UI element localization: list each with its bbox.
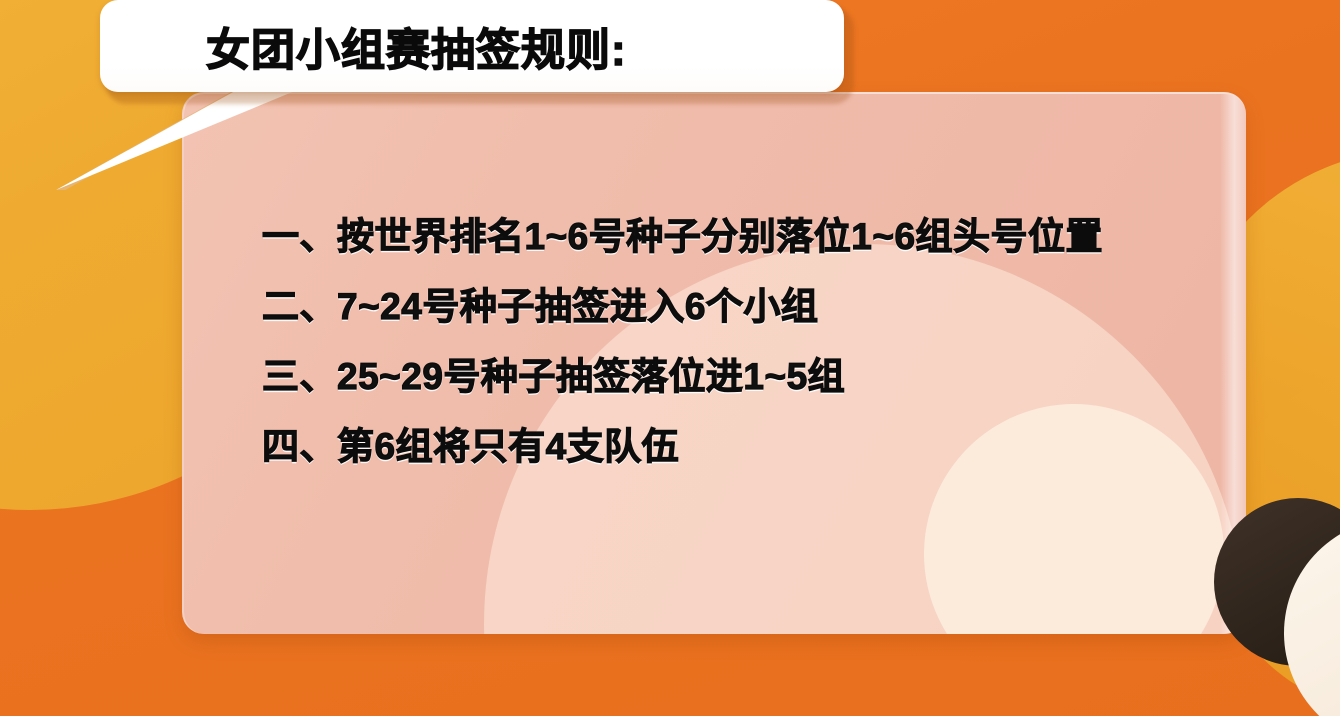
table-tennis-ball-graphic xyxy=(1198,492,1340,716)
rule-item-2: 二、7~24号种子抽签进入6个小组 xyxy=(262,272,1246,342)
graphic-canvas: 一、按世界排名1~6号种子分别落位1~6组头号位置 二、7~24号种子抽签进入6… xyxy=(0,0,1340,716)
page-title: 女团小组赛抽签规则: xyxy=(206,14,627,78)
rules-panel: 一、按世界排名1~6号种子分别落位1~6组头号位置 二、7~24号种子抽签进入6… xyxy=(182,92,1246,634)
rules-list: 一、按世界排名1~6号种子分别落位1~6组头号位置 二、7~24号种子抽签进入6… xyxy=(184,94,1246,482)
rule-item-4: 四、第6组将只有4支队伍 xyxy=(262,412,1246,482)
rule-item-1: 一、按世界排名1~6号种子分别落位1~6组头号位置 xyxy=(262,202,1246,272)
title-bubble: 女团小组赛抽签规则: xyxy=(100,0,844,92)
rule-item-3: 三、25~29号种子抽签落位进1~5组 xyxy=(262,342,1246,412)
